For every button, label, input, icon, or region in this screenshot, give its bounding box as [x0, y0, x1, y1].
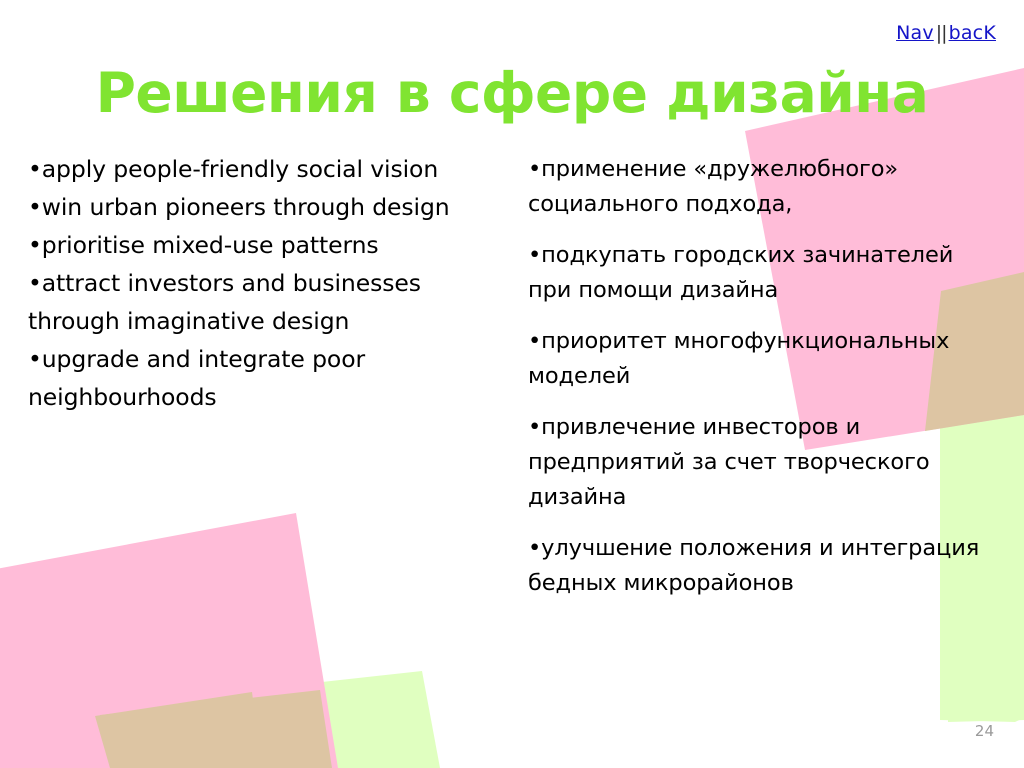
pink-parallelogram-bottom-left	[0, 513, 338, 768]
list-item: •win urban pioneers through design	[28, 188, 498, 226]
page-number: 24	[975, 722, 994, 740]
list-item: •apply people-friendly social vision	[28, 150, 498, 188]
list-item: •upgrade and integrate poor neighbourhoo…	[28, 340, 498, 416]
list-item: •подкупать городских зачинателей при пом…	[528, 238, 996, 308]
slide-canvas: Nav||bacK Решения в сфере дизайна •apply…	[0, 0, 1024, 768]
navigation-links: Nav||bacK	[896, 22, 996, 45]
nav-separator: ||	[934, 22, 949, 44]
nav-link-back[interactable]: bacK	[949, 22, 996, 44]
slide-title: Решения в сфере дизайна	[0, 62, 1024, 124]
nav-link-nav[interactable]: Nav	[896, 22, 934, 44]
left-column-english: •apply people-friendly social vision •wi…	[28, 150, 498, 416]
list-item: •attract investors and businesses throug…	[28, 264, 498, 340]
list-item: •приоритет многофункциональных моделей	[528, 324, 996, 394]
tan-overlap-bottom-left-b	[95, 692, 262, 768]
list-item: •улучшение положения и интеграция бедных…	[528, 531, 996, 601]
right-column-russian: •применение «дружелюбного» социального п…	[528, 152, 996, 601]
green-rect-bottom-center	[250, 672, 425, 768]
green-rect-bottom-center-b	[250, 671, 440, 768]
tan-overlap-bottom-left	[100, 690, 332, 768]
list-item: •привлечение инвесторов и предприятий за…	[528, 410, 996, 515]
list-item: •применение «дружелюбного» социального п…	[528, 152, 996, 222]
list-item: •prioritise mixed-use patterns	[28, 226, 498, 264]
